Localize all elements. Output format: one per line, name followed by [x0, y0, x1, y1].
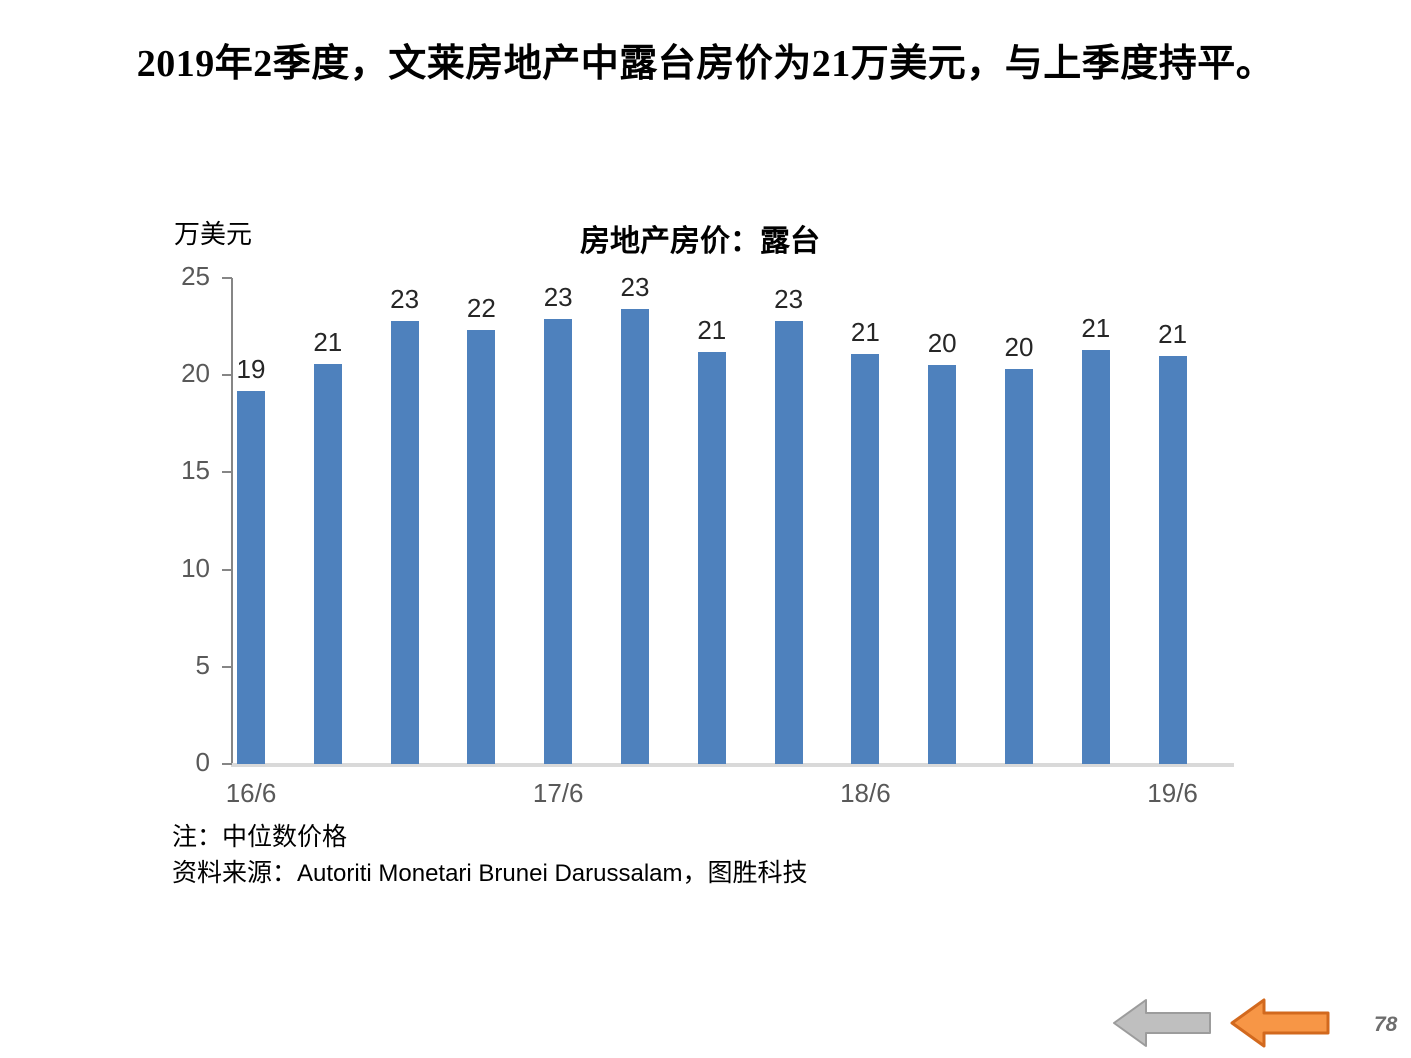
bar: [391, 321, 419, 764]
x-tick-label: 18/6: [820, 778, 910, 809]
y-tick-mark: [222, 277, 232, 279]
source-prefix: 资料来源：: [172, 860, 297, 887]
footnotes: 注：中位数价格 资料来源：Autoriti Monetari Brunei Da…: [172, 820, 808, 892]
y-tick-label: 15: [156, 455, 210, 486]
y-tick-label: 25: [156, 261, 210, 292]
bar: [775, 321, 803, 764]
footnote-source: 资料来源：Autoriti Monetari Brunei Darussalam…: [172, 856, 808, 892]
bar-value-label: 20: [991, 332, 1047, 363]
source-suffix: ，图胜科技: [683, 860, 808, 887]
bar-value-label: 19: [223, 354, 279, 385]
x-tick-label: 17/6: [513, 778, 603, 809]
y-tick-label: 10: [156, 553, 210, 584]
bar-value-label: 22: [453, 293, 509, 324]
bar: [621, 309, 649, 764]
bar-value-label: 23: [377, 284, 433, 315]
y-tick-mark: [222, 763, 232, 765]
bar: [544, 319, 572, 764]
bar-value-label: 21: [1068, 313, 1124, 344]
chart-container: 万美元 房地产房价：露台 0510152025 1921232223232123…: [0, 0, 1411, 1058]
bar-value-label: 23: [761, 284, 817, 315]
bar: [237, 391, 265, 764]
chart-title: 房地产房价：露台: [440, 216, 960, 260]
back-arrow-orange-icon[interactable]: [1228, 995, 1332, 1056]
bar-value-label: 21: [837, 317, 893, 348]
source-organization: Autoriti Monetari Brunei Darussalam: [297, 860, 683, 887]
y-axis-line: [231, 278, 233, 765]
page-number: 78: [1374, 1013, 1397, 1037]
bar-value-label: 23: [607, 272, 663, 303]
bar: [1159, 356, 1187, 764]
bar: [314, 364, 342, 764]
y-tick-mark: [222, 471, 232, 473]
bar-value-label: 21: [300, 327, 356, 358]
bar-value-label: 23: [530, 282, 586, 313]
bar: [928, 365, 956, 764]
y-tick-mark: [222, 569, 232, 571]
x-tick-label: 19/6: [1128, 778, 1218, 809]
back-arrow-gray-icon[interactable]: [1110, 995, 1214, 1056]
bar-value-label: 21: [1145, 319, 1201, 350]
footnote-note: 注：中位数价格: [172, 820, 808, 856]
y-tick-label: 20: [156, 358, 210, 389]
bar: [1082, 350, 1110, 764]
y-tick-mark: [222, 666, 232, 668]
bar-value-label: 21: [684, 315, 740, 346]
x-tick-label: 16/6: [206, 778, 296, 809]
y-axis-unit-label: 万美元: [174, 214, 252, 251]
y-tick-label: 0: [156, 747, 210, 778]
y-tick-label: 5: [156, 650, 210, 681]
bar: [698, 352, 726, 764]
bar-value-label: 20: [914, 328, 970, 359]
bar: [1005, 369, 1033, 764]
bar: [467, 330, 495, 764]
navigation-arrows[interactable]: [1110, 995, 1350, 1051]
bar: [851, 354, 879, 764]
